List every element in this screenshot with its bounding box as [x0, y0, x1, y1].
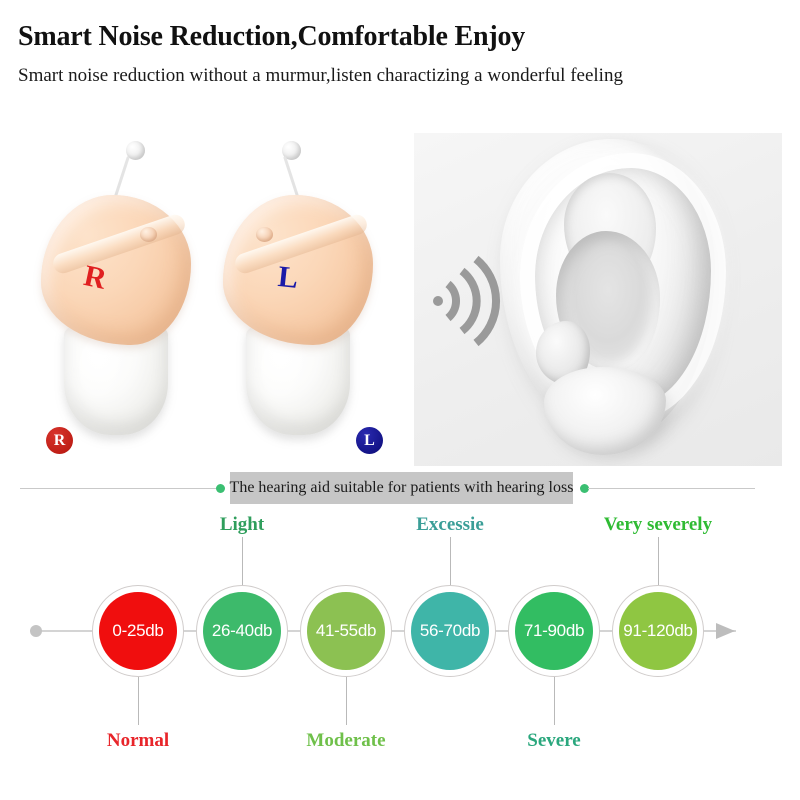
battery-door-nub	[256, 227, 273, 242]
section-caption: The hearing aid suitable for patients wi…	[0, 470, 800, 506]
node-disc: 71-90db	[515, 592, 593, 670]
node-connector-line	[450, 537, 451, 585]
node-label: Light	[220, 515, 264, 534]
node-disc: 0-25db	[99, 592, 177, 670]
node-connector-line	[346, 677, 347, 725]
node-disc: 26-40db	[203, 592, 281, 670]
ear-photo	[414, 133, 782, 466]
right-side-badge: R	[46, 427, 73, 454]
node-label: Moderate	[306, 731, 385, 750]
left-side-badge: L	[356, 427, 383, 454]
page-subtitle: Smart noise reduction without a murmur,l…	[18, 53, 788, 87]
node-connector-line	[138, 677, 139, 725]
hearing-aid-left-device: L	[204, 133, 392, 466]
page-header: Smart Noise Reduction,Comfortable Enjoy …	[18, 22, 788, 87]
node-connector-line	[242, 537, 243, 585]
scale-arrow-icon	[716, 623, 735, 639]
scale-start-dot-icon	[30, 625, 42, 637]
node-label: Normal	[107, 731, 169, 750]
node-value: 71-90db	[524, 621, 584, 641]
scale-node-light[interactable]: 26-40dbLight	[196, 585, 288, 677]
battery-door-nub	[140, 227, 157, 242]
hearing-loss-scale: 0-25dbNormal26-40dbLight41-55dbModerate5…	[0, 512, 800, 752]
node-value: 41-55db	[316, 621, 376, 641]
page-title: Smart Noise Reduction,Comfortable Enjoy	[18, 22, 788, 53]
scale-node-very-severely[interactable]: 91-120dbVery severely	[612, 585, 704, 677]
node-value: 91-120db	[623, 621, 692, 641]
scale-node-severe[interactable]: 71-90dbSevere	[508, 585, 600, 677]
node-disc: 56-70db	[411, 592, 489, 670]
node-label: Severe	[527, 731, 580, 750]
caption-rule-left	[20, 488, 216, 489]
node-disc: 41-55db	[307, 592, 385, 670]
node-disc: 91-120db	[619, 592, 697, 670]
caption-dot-left-icon	[216, 484, 225, 493]
product-photo-row: Я L R L	[18, 133, 782, 466]
node-value: 56-70db	[420, 621, 480, 641]
scale-node-moderate[interactable]: 41-55dbModerate	[300, 585, 392, 677]
node-value: 26-40db	[212, 621, 272, 641]
node-value: 0-25db	[112, 621, 163, 641]
hearing-aid-pair-photo: Я L R L	[18, 133, 394, 466]
ear-illustration	[500, 139, 738, 459]
hearing-aid-right-device: Я	[22, 133, 210, 466]
caption-text: The hearing aid suitable for patients wi…	[230, 479, 574, 497]
device-faceplate	[41, 195, 191, 345]
ear-lobe	[544, 367, 666, 455]
device-side-mark-l: L	[276, 262, 299, 294]
caption-rule-right	[588, 488, 755, 489]
node-label: Very severely	[604, 515, 712, 534]
node-label: Excessie	[416, 515, 484, 534]
sound-wave-icon	[428, 251, 508, 351]
node-connector-line	[658, 537, 659, 585]
node-connector-line	[554, 677, 555, 725]
scale-node-excessie[interactable]: 56-70dbExcessie	[404, 585, 496, 677]
caption-box: The hearing aid suitable for patients wi…	[230, 472, 573, 504]
scale-node-normal[interactable]: 0-25dbNormal	[92, 585, 184, 677]
